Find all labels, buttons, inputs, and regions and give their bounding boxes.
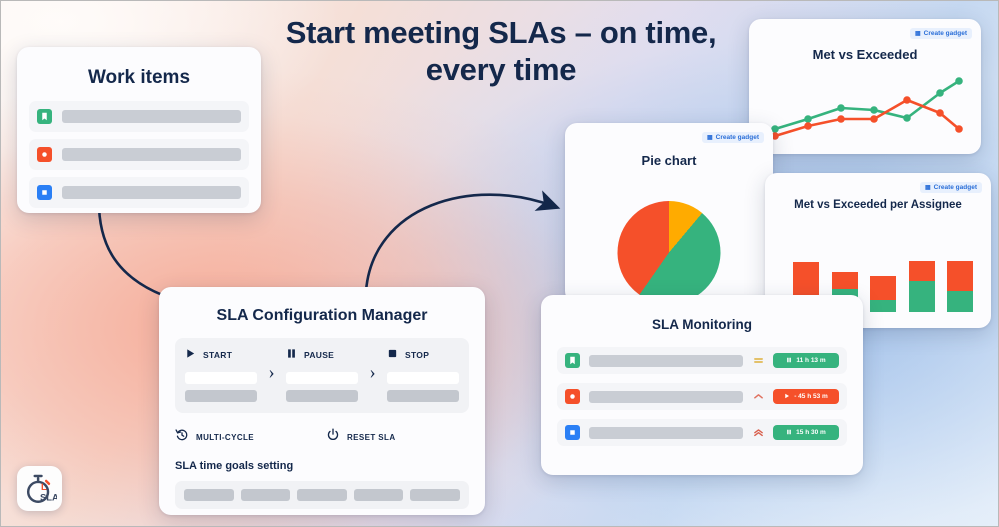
issue-title-placeholder <box>589 427 743 439</box>
stopwatch-icon: L SLA <box>23 472 57 506</box>
series-met <box>775 81 959 129</box>
sla-lifecycle-controls: START › PAUSE › <box>175 338 469 413</box>
sla-badge[interactable]: 15 h 30 m <box>773 425 839 440</box>
promo-banner: Work items Start meeting SLAs – on time,… <box>0 0 999 527</box>
control-label: START <box>203 350 232 360</box>
work-item-row[interactable] <box>29 139 249 170</box>
series-met-points <box>771 77 963 133</box>
met-vs-exceeded-title: Met vs Exceeded <box>749 47 981 62</box>
task-icon <box>37 185 52 200</box>
pause-condition-input[interactable] <box>286 372 358 384</box>
pause-icon <box>786 429 792 437</box>
sla-badge-text: - 45 h 53 m <box>794 393 828 400</box>
line-chart <box>763 71 967 143</box>
logo-mark: L <box>40 481 46 492</box>
start-condition-value <box>185 390 257 402</box>
stop-icon <box>387 346 398 364</box>
sla-badge-text: 15 h 30 m <box>796 429 826 436</box>
chevron-up-icon <box>752 391 764 402</box>
reset-sla-label: RESET SLA <box>347 433 396 442</box>
goal-chip[interactable] <box>184 489 234 501</box>
work-item-title-placeholder <box>62 148 241 161</box>
control-start[interactable]: START <box>185 347 257 402</box>
pie-chart <box>618 201 721 304</box>
task-icon <box>565 425 580 440</box>
control-label: STOP <box>405 350 429 360</box>
sla-badge[interactable]: - 45 h 53 m <box>773 389 839 404</box>
reset-sla-option[interactable]: RESET SLA <box>326 428 469 447</box>
sla-badge[interactable]: 11 h 13 m <box>773 353 839 368</box>
work-item-row[interactable] <box>29 177 249 208</box>
story-icon <box>37 109 52 124</box>
goal-chip[interactable] <box>410 489 460 501</box>
create-gadget-label: Create gadget <box>934 184 977 191</box>
create-gadget-button[interactable]: ▦ Create gadget <box>702 132 764 143</box>
multi-cycle-option[interactable]: MULTI-CYCLE <box>175 428 318 447</box>
gadget-icon: ▦ <box>707 134 713 141</box>
control-label: PAUSE <box>304 350 334 360</box>
control-pause[interactable]: PAUSE <box>286 347 358 402</box>
create-gadget-button[interactable]: ▦ Create gadget <box>910 28 972 39</box>
gadget-icon: ▦ <box>915 30 921 37</box>
pause-condition-value <box>286 390 358 402</box>
sla-options-row: MULTI-CYCLE RESET SLA <box>175 428 469 447</box>
monitoring-row[interactable]: 15 h 30 m <box>557 419 847 446</box>
multi-cycle-label: MULTI-CYCLE <box>196 433 254 442</box>
bug-icon <box>565 389 580 404</box>
pie-chart-title: Pie chart <box>565 153 773 168</box>
bar-column <box>947 261 973 312</box>
arrow-config-to-gadgets <box>366 195 553 291</box>
story-icon <box>565 353 580 368</box>
work-items-title: Work items <box>29 67 249 89</box>
bug-icon <box>37 147 52 162</box>
sla-goals-panel <box>175 481 469 509</box>
create-gadget-button[interactable]: ▦ Create gadget <box>920 182 982 193</box>
met-vs-exceeded-gadget: ▦ Create gadget Met vs Exceeded <box>749 19 981 154</box>
gadget-icon: ▦ <box>925 184 931 191</box>
chevron-right-icon: › <box>268 363 274 382</box>
sla-config-title: SLA Configuration Manager <box>175 307 469 325</box>
stop-condition-input[interactable] <box>387 372 459 384</box>
goal-chip[interactable] <box>241 489 291 501</box>
issue-title-placeholder <box>589 391 743 403</box>
bar-column <box>909 261 935 312</box>
create-gadget-label: Create gadget <box>924 30 967 37</box>
sla-configuration-manager-card: SLA Configuration Manager START › <box>159 287 485 515</box>
work-item-title-placeholder <box>62 186 241 199</box>
bar-column <box>870 276 896 312</box>
history-icon <box>175 428 189 447</box>
series-exceeded <box>775 100 959 136</box>
sla-monitoring-card: SLA Monitoring 11 h 13 m <box>541 295 863 475</box>
play-icon <box>185 346 196 364</box>
pause-icon <box>786 357 792 365</box>
pie-chart-gadget: ▦ Create gadget Pie chart <box>565 123 773 303</box>
create-gadget-label: Create gadget <box>716 134 759 141</box>
goal-chip[interactable] <box>354 489 404 501</box>
double-chevron-up-icon <box>752 427 764 438</box>
equals-icon <box>752 355 764 366</box>
goal-chip[interactable] <box>297 489 347 501</box>
sla-monitoring-title: SLA Monitoring <box>557 317 847 332</box>
start-condition-input[interactable] <box>185 372 257 384</box>
power-icon <box>326 428 340 447</box>
work-item-row[interactable] <box>29 101 249 132</box>
stop-condition-value <box>387 390 459 402</box>
work-item-title-placeholder <box>62 110 241 123</box>
work-items-card: Work items <box>17 47 261 213</box>
sla-goals-title: SLA time goals setting <box>175 460 469 472</box>
per-assignee-title: Met vs Exceeded per Assignee <box>765 199 991 211</box>
issue-title-placeholder <box>589 355 743 367</box>
chevron-right-icon: › <box>369 363 375 382</box>
stopwatch-sla-logo: L SLA <box>17 466 62 511</box>
control-stop[interactable]: STOP <box>387 347 459 402</box>
logo-text: SLA <box>40 492 57 503</box>
monitoring-row[interactable]: - 45 h 53 m <box>557 383 847 410</box>
monitoring-row[interactable]: 11 h 13 m <box>557 347 847 374</box>
pause-icon <box>286 346 297 364</box>
play-icon <box>784 393 790 401</box>
sla-badge-text: 11 h 13 m <box>796 357 825 364</box>
page-title: Start meeting SLAs – on time, every time <box>277 15 725 88</box>
